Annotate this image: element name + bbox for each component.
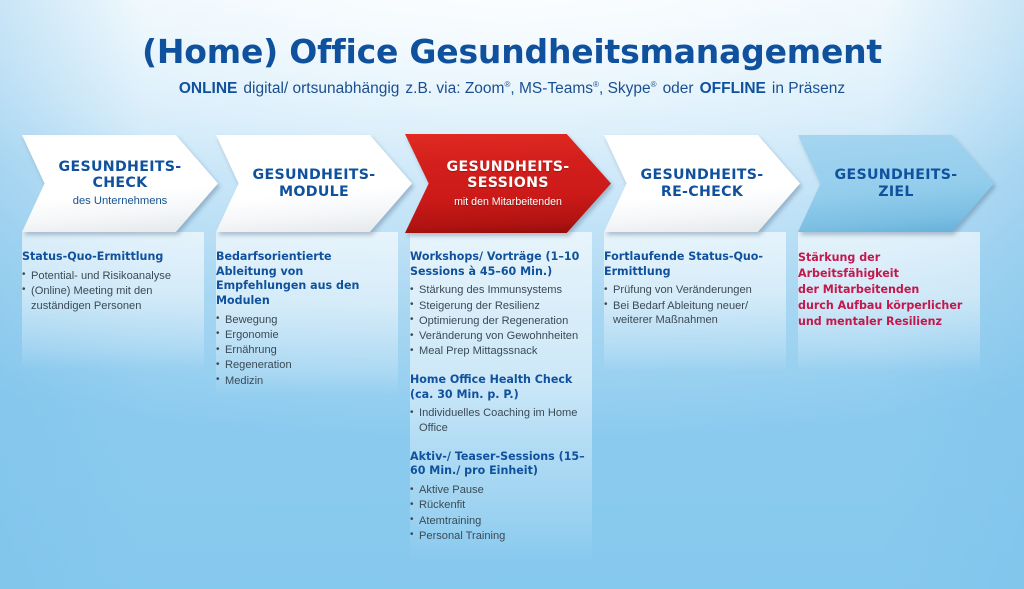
goal-line: der Mitarbeitenden	[798, 282, 974, 298]
content-group: Fortlaufende Status-Quo-ErmittlungPrüfun…	[604, 250, 780, 328]
chevron-label: GESUNDHEITS-CHECKdes Unternehmens	[22, 135, 218, 232]
bullet-item: Personal Training	[410, 529, 586, 544]
bullet-item: Stärkung des Immunsystems	[410, 283, 586, 298]
content-group: Home Office Health Check (ca. 30 Min. p.…	[410, 373, 586, 436]
bullet-item: Aktive Pause	[410, 483, 586, 498]
chevron-title-line2: MODULE	[279, 184, 349, 200]
chevron-title-line2: SESSIONS	[467, 175, 549, 191]
bullet-item: Individuelles Coaching im Home Office	[410, 406, 586, 436]
chevron-title-line1: GESUNDHEITS-	[447, 159, 570, 175]
chevron-gesundheits-module[interactable]: GESUNDHEITS-MODULE	[216, 135, 412, 232]
bullet-item: Veränderung von Gewohnheiten	[410, 329, 586, 344]
chevron-title-line1: GESUNDHEITS-	[641, 167, 764, 183]
chevron-label: GESUNDHEITS-MODULE	[216, 135, 412, 232]
group-heading: Bedarfsorientierte Ableitung von Empfehl…	[216, 250, 392, 309]
page-title: (Home) Office Gesundheitsmanagement	[0, 0, 1024, 71]
chevron-subtitle: mit den Mitarbeitenden	[454, 196, 562, 208]
bullet-item: Bei Bedarf Ableitung neuer/ weiterer Maß…	[604, 299, 780, 329]
chevron-label: GESUNDHEITS-SESSIONSmit den Mitarbeitend…	[405, 134, 611, 233]
group-heading: Status-Quo-Ermittlung	[22, 250, 198, 265]
column-body-gesundheits-sessions: Workshops/ Vorträge (1–10 Sessions à 45–…	[410, 250, 586, 544]
bullet-list: Aktive PauseRückenfitAtemtrainingPersona…	[410, 483, 586, 544]
chevron-title-line2: RE-CHECK	[661, 184, 743, 200]
chevron-title-line1: GESUNDHEITS-	[59, 159, 182, 175]
column-body-gesundheits-re-check: Fortlaufende Status-Quo-ErmittlungPrüfun…	[604, 250, 780, 329]
bullet-item: Regeneration	[216, 358, 392, 373]
bullet-item: Bewegung	[216, 313, 392, 328]
goal-statement: Stärkung der Arbeitsfähigkeitder Mitarbe…	[798, 250, 974, 330]
group-heading: Fortlaufende Status-Quo-Ermittlung	[604, 250, 780, 279]
content-group: Aktiv-/ Teaser-Sessions (15–60 Min./ pro…	[410, 450, 586, 544]
column-gesundheits-check[interactable]: GESUNDHEITS-CHECKdes Unternehmens	[22, 135, 218, 232]
group-heading: Aktiv-/ Teaser-Sessions (15–60 Min./ pro…	[410, 450, 586, 479]
bullet-item: Prüfung von Veränderungen	[604, 283, 780, 298]
bullet-item: Ergonomie	[216, 328, 392, 343]
content-group: Status-Quo-ErmittlungPotential- und Risi…	[22, 250, 198, 313]
bullet-list: Potential- und Risikoanalyse(Online) Mee…	[22, 269, 198, 314]
chevron-gesundheits-ziel[interactable]: GESUNDHEITS-ZIEL	[798, 135, 994, 232]
bullet-item: Ernährung	[216, 343, 392, 358]
group-heading: Workshops/ Vorträge (1–10 Sessions à 45–…	[410, 250, 586, 279]
header: (Home) Office Gesundheitsmanagement ONLI…	[0, 0, 1024, 98]
bullet-item: Atemtraining	[410, 514, 586, 529]
infographic-stage: (Home) Office Gesundheitsmanagement ONLI…	[0, 0, 1024, 589]
bullet-item: Rückenfit	[410, 498, 586, 513]
chevron-title-line1: GESUNDHEITS-	[835, 167, 958, 183]
column-gesundheits-module[interactable]: GESUNDHEITS-MODULE	[216, 135, 412, 232]
column-body-gesundheits-check: Status-Quo-ErmittlungPotential- und Risi…	[22, 250, 198, 314]
bullet-list: BewegungErgonomieErnährungRegenerationMe…	[216, 313, 392, 389]
bullet-item: Steigerung der Resilienz	[410, 299, 586, 314]
chevron-title-line2: ZIEL	[878, 184, 914, 200]
group-heading: Home Office Health Check (ca. 30 Min. p.…	[410, 373, 586, 402]
bullet-list: Individuelles Coaching im Home Office	[410, 406, 586, 436]
chevron-gesundheits-sessions[interactable]: GESUNDHEITS-SESSIONSmit den Mitarbeitend…	[405, 134, 611, 233]
chevron-gesundheits-re-check[interactable]: GESUNDHEITS-RE-CHECK	[604, 135, 800, 232]
page-subtitle: ONLINEdigital/ ortsunabhängigz.B. via: Z…	[0, 71, 1024, 98]
column-body-gesundheits-module: Bedarfsorientierte Ableitung von Empfehl…	[216, 250, 392, 389]
subtitle-part: ONLINE	[179, 80, 238, 97]
subtitle-part: OFFLINE	[700, 80, 766, 97]
chevron-title-line1: GESUNDHEITS-	[253, 167, 376, 183]
bullet-list: Stärkung des ImmunsystemsSteigerung der …	[410, 283, 586, 359]
chevron-label: GESUNDHEITS-ZIEL	[798, 135, 994, 232]
bullet-item: Meal Prep Mittagssnack	[410, 344, 586, 359]
chevron-label: GESUNDHEITS-RE-CHECK	[604, 135, 800, 232]
subtitle-part: in Präsenz	[772, 80, 845, 97]
bullet-item: (Online) Meeting mit den zuständigen Per…	[22, 284, 198, 314]
content-group: Bedarfsorientierte Ableitung von Empfehl…	[216, 250, 392, 388]
chevron-title-line2: CHECK	[93, 175, 148, 191]
column-gesundheits-sessions[interactable]: GESUNDHEITS-SESSIONSmit den Mitarbeitend…	[410, 135, 611, 233]
bullet-item: Potential- und Risikoanalyse	[22, 269, 198, 284]
column-body-gesundheits-ziel: Stärkung der Arbeitsfähigkeitder Mitarbe…	[798, 250, 974, 330]
subtitle-part: oder	[663, 80, 694, 97]
goal-line: Stärkung der Arbeitsfähigkeit	[798, 250, 974, 282]
subtitle-part: z.B. via: Zoom®, MS-Teams®, Skype®	[405, 80, 656, 97]
goal-line: durch Aufbau körperlicher	[798, 298, 974, 314]
chevron-subtitle: des Unternehmens	[73, 195, 168, 208]
bullet-list: Prüfung von VeränderungenBei Bedarf Able…	[604, 283, 780, 328]
column-gesundheits-ziel[interactable]: GESUNDHEITS-ZIEL	[798, 135, 994, 232]
goal-line: und mentaler Resilienz	[798, 314, 974, 330]
bullet-item: Optimierung der Regeneration	[410, 314, 586, 329]
content-group: Workshops/ Vorträge (1–10 Sessions à 45–…	[410, 250, 586, 359]
chevron-gesundheits-check[interactable]: GESUNDHEITS-CHECKdes Unternehmens	[22, 135, 218, 232]
column-gesundheits-re-check[interactable]: GESUNDHEITS-RE-CHECK	[604, 135, 800, 232]
bullet-item: Medizin	[216, 374, 392, 389]
subtitle-part: digital/ ortsunabhängig	[243, 80, 399, 97]
